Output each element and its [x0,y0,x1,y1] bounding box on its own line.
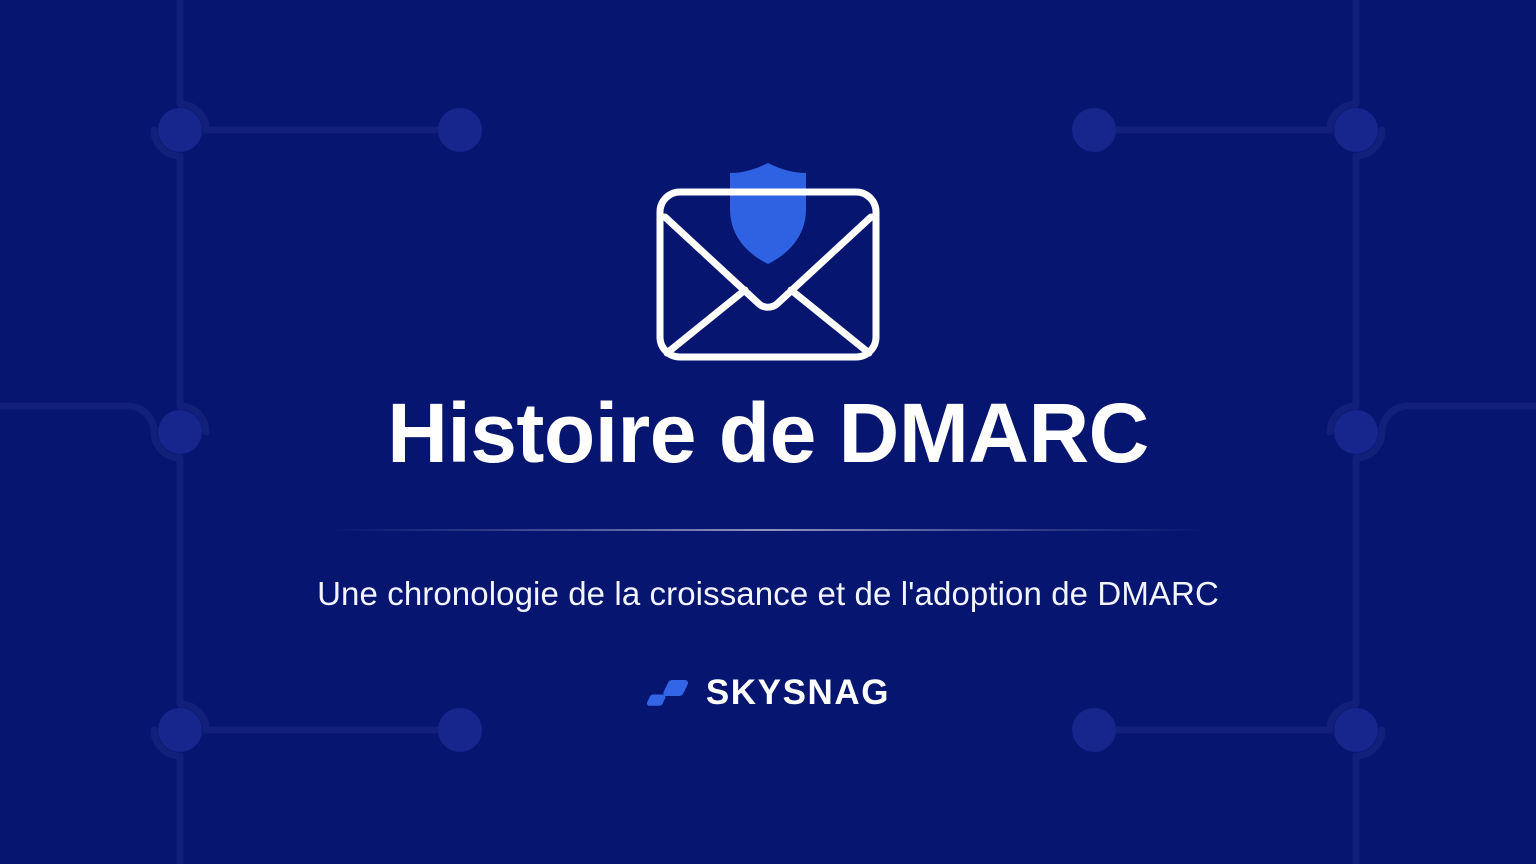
slide-canvas: Histoire de DMARC Une chronologie de la … [0,0,1536,864]
page-title: Histoire de DMARC [387,389,1149,477]
skysnag-logo-icon [646,678,692,708]
shield-icon [730,163,806,264]
skysnag-mark-small [647,694,666,705]
brand-lockup: SKYSNAG [646,675,890,710]
secure-email-envelope-shield-icon [653,160,883,365]
page-subtitle: Une chronologie de la croissance et de l… [317,575,1219,613]
slide-content: Histoire de DMARC Une chronologie de la … [0,0,1536,864]
envelope-crease-left [667,290,745,353]
title-divider [328,529,1208,531]
skysnag-mark-large [663,680,688,696]
brand-name: SKYSNAG [706,675,890,710]
envelope-crease-right [791,290,869,353]
